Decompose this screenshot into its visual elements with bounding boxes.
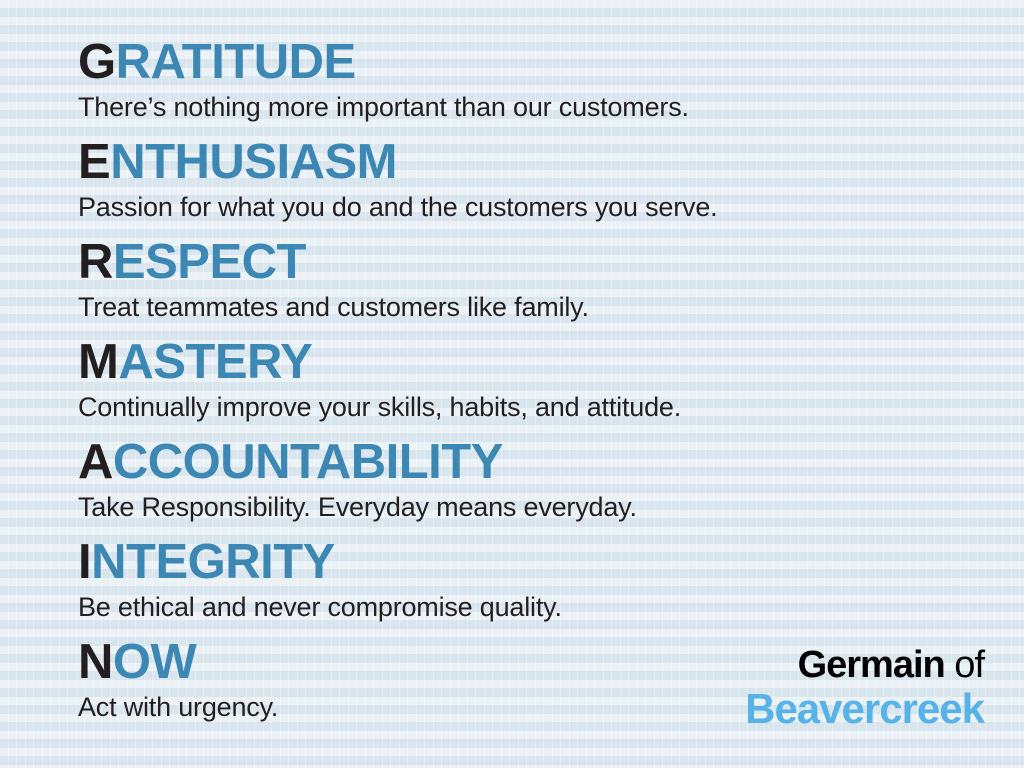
value-initial-letter: A [78,435,113,489]
value-heading-remainder: RATITUDE [116,35,356,89]
value-heading-respect: RESPECT [78,236,589,288]
value-description-respect: Treat teammates and customers like famil… [78,291,589,323]
value-description-enthusiasm: Passion for what you do and the customer… [78,191,717,223]
value-item-enthusiasm: ENTHUSIASM Passion for what you do and t… [78,136,717,223]
value-heading-remainder: OW [113,635,196,689]
value-heading-mastery: MASTERY [78,336,681,388]
logo-brand-name: Germain [798,644,945,686]
logo-brand-line: Germain of [745,644,984,686]
value-initial-letter: E [78,135,110,189]
value-description-gratitude: There’s nothing more important than our … [78,91,689,123]
logo-connector: of [945,644,984,686]
value-item-gratitude: GRATITUDE There’s nothing more important… [78,36,689,123]
value-item-integrity: INTEGRITY Be ethical and never compromis… [78,536,562,623]
value-item-mastery: MASTERY Continually improve your skills,… [78,336,681,423]
value-heading-remainder: ASTERY [118,335,312,389]
value-initial-letter: R [78,235,113,289]
value-description-mastery: Continually improve your skills, habits,… [78,391,681,423]
value-initial-letter: I [78,535,91,589]
value-heading-remainder: NTEGRITY [91,535,335,589]
value-item-accountability: ACCOUNTABILITY Take Responsibility. Ever… [78,436,637,523]
value-heading-remainder: NTHUSIASM [110,135,397,189]
value-description-accountability: Take Responsibility. Everyday means ever… [78,491,637,523]
value-heading-enthusiasm: ENTHUSIASM [78,136,717,188]
value-item-respect: RESPECT Treat teammates and customers li… [78,236,589,323]
value-initial-letter: N [78,635,113,689]
value-heading-remainder: CCOUNTABILITY [113,435,503,489]
values-poster: GRATITUDE There’s nothing more important… [0,0,1024,768]
value-description-integrity: Be ethical and never compromise quality. [78,591,562,623]
value-heading-integrity: INTEGRITY [78,536,562,588]
dealership-logo: Germain of Beavercreek [745,644,984,732]
value-heading-remainder: ESPECT [113,235,306,289]
value-heading-gratitude: GRATITUDE [78,36,689,88]
logo-location: Beavercreek [745,686,984,732]
value-initial-letter: M [78,335,118,389]
value-description-now: Act with urgency. [78,691,278,723]
value-heading-accountability: ACCOUNTABILITY [78,436,637,488]
value-item-now: NOW Act with urgency. [78,636,278,723]
value-initial-letter: G [78,35,116,89]
value-heading-now: NOW [78,636,278,688]
